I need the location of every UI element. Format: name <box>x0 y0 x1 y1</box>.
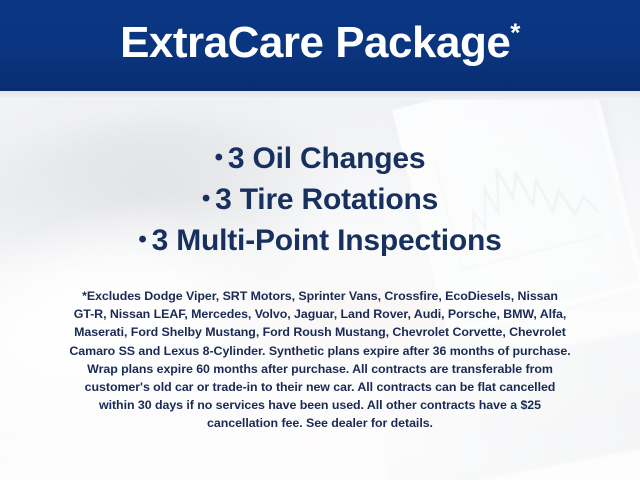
fineprint-line: cancellation fee. See dealer for details… <box>30 414 610 432</box>
header-band: ExtraCare Package* <box>0 0 640 88</box>
fineprint-line: *Excludes Dodge Viper, SRT Motors, Sprin… <box>30 287 610 305</box>
page-title-asterisk: * <box>510 17 520 47</box>
page-title: ExtraCare Package* <box>120 21 520 65</box>
fineprint-line: Maserati, Ford Shelby Mustang, Ford Rous… <box>30 323 610 341</box>
bullet-icon: • <box>215 144 223 171</box>
fineprint-line: Wrap plans expire 60 months after purcha… <box>30 360 610 378</box>
page-title-text: ExtraCare Package <box>120 18 510 67</box>
fineprint-line: Camaro SS and Lexus 8-Cylinder. Syntheti… <box>30 342 610 360</box>
benefit-label: 3 Multi-Point Inspections <box>152 224 502 257</box>
fineprint-disclaimer: *Excludes Dodge Viper, SRT Motors, Sprin… <box>30 287 610 433</box>
fineprint-line: GT-R, Nissan LEAF, Mercedes, Volvo, Jagu… <box>30 305 610 323</box>
fineprint-line: customer's old car or trade-in to their … <box>30 378 610 396</box>
benefit-item: •3 Oil Changes <box>18 138 622 179</box>
bullet-icon: • <box>202 185 210 212</box>
benefit-label: 3 Tire Rotations <box>215 183 438 216</box>
benefits-list: •3 Oil Changes •3 Tire Rotations •3 Mult… <box>0 138 640 261</box>
bullet-icon: • <box>138 226 146 253</box>
header-light-shelf <box>0 91 640 100</box>
benefit-item: •3 Tire Rotations <box>18 179 622 220</box>
benefit-item: •3 Multi-Point Inspections <box>18 220 622 261</box>
fineprint-line: within 30 days if no services have been … <box>30 396 610 414</box>
benefit-label: 3 Oil Changes <box>228 142 425 175</box>
extracare-package-ad: ExtraCare Package* •3 Oil Changes •3 Tir… <box>0 0 640 480</box>
